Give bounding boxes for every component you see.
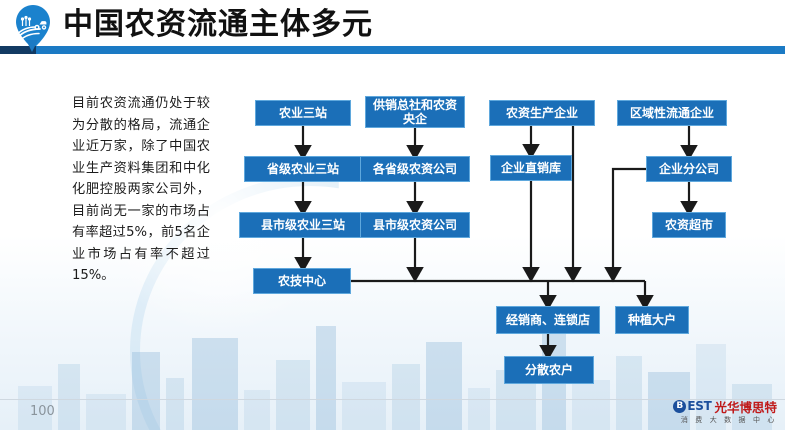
node-agri-three-stations[interactable]: 农业三站 [255,100,351,126]
header-accent-bar [0,46,785,54]
brand-name-cn: 光华博思特 [714,397,777,416]
node-agri-supermarket[interactable]: 农资超市 [652,212,726,238]
node-regional-distribution-enterprise[interactable]: 区域性流通企业 [617,100,727,126]
node-direct-sales-warehouse[interactable]: 企业直销库 [490,155,572,181]
slide-canvas: 中国农资流通主体多元 目前农资流通仍处于较为分散的格局，流通企业近万家，除了中国… [0,0,785,430]
node-county-agri-company[interactable]: 县市级农资公司 [360,212,470,238]
brand-logo: B EST 光华博思特 消 费 大 数 据 中 心 [673,398,777,425]
brand-tagline: 消 费 大 数 据 中 心 [673,415,777,425]
node-county-three-stations[interactable]: 县市级农业三站 [239,212,367,238]
page-number: 100 [30,404,55,419]
node-scattered-farmers[interactable]: 分散农户 [504,356,594,384]
footer-divider [0,399,785,400]
page-title: 中国农资流通主体多元 [63,5,373,45]
body-paragraph: 目前农资流通仍处于较为分散的格局，流通企业近万家，除了中国农业生产资料集团和中化… [72,93,210,287]
brand-mark-icon: B [673,400,686,413]
node-provincial-agri-company[interactable]: 各省级农资公司 [360,156,470,182]
node-supply-coop-central-enterprise[interactable]: 供销总社和农资央企 [365,96,465,128]
node-large-grower[interactable]: 种植大户 [615,306,689,334]
node-enterprise-branch[interactable]: 企业分公司 [646,156,732,182]
node-agri-producer-enterprise[interactable]: 农资生产企业 [489,100,595,126]
node-provincial-three-stations[interactable]: 省级农业三站 [244,156,362,182]
slide-header: 中国农资流通主体多元 [0,0,785,56]
node-agri-tech-center[interactable]: 农技中心 [253,268,351,294]
brand-name-en: EST [687,399,711,413]
node-dealer-chain-store[interactable]: 经销商、连锁店 [496,306,600,334]
